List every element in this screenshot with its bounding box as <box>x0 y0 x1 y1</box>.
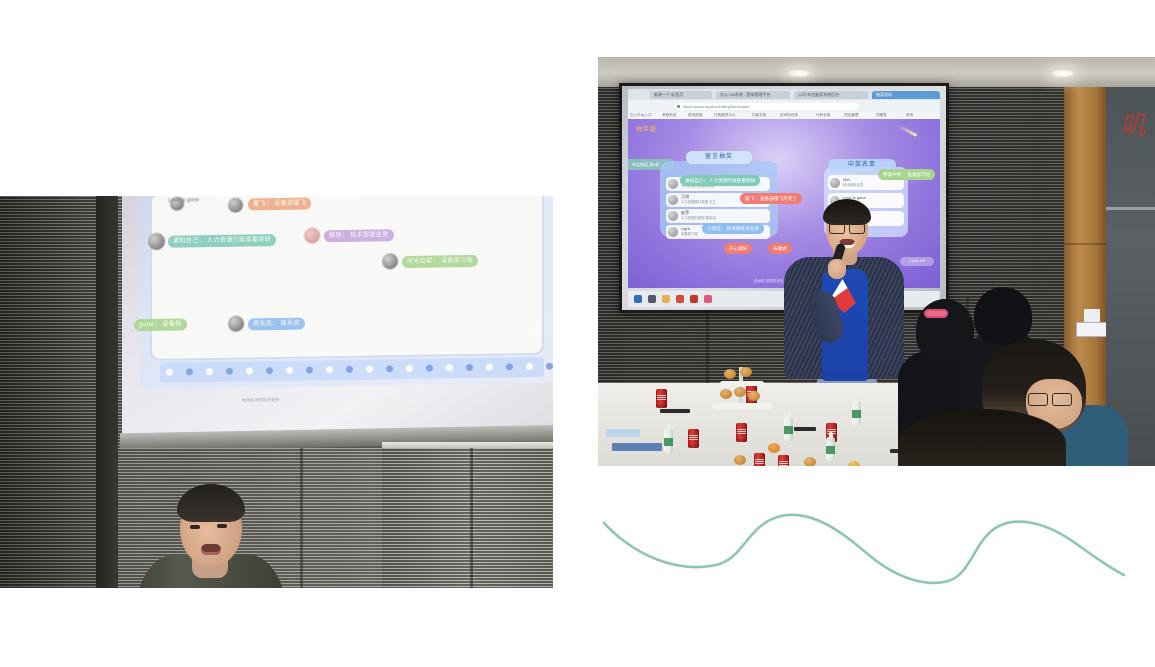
pastry <box>734 387 746 397</box>
chat-icon[interactable] <box>704 295 712 303</box>
projector-screen-left: Love is gone 雷飞： 设备部雷飞 通知自己： 人力资源行政部董晓妍 … <box>122 196 553 441</box>
pastry <box>734 455 746 465</box>
page-footer-note: 技术部 提供技术支持 <box>754 279 787 284</box>
browser-tab-active[interactable]: 抽奖现场 <box>872 91 940 99</box>
browser-tab[interactable]: 公司 年会抽奖系统后台 <box>794 91 868 99</box>
name-card <box>612 443 662 451</box>
shooting-star-icon <box>897 124 918 137</box>
coca-cola-can <box>688 429 699 448</box>
draw-user-name: Love is gone <box>168 196 226 213</box>
glasses-icon <box>829 223 865 232</box>
browser-tab-label: 新建一个 标签页 <box>650 91 712 99</box>
speaker-eye <box>217 524 227 528</box>
speaker-mouth <box>201 544 221 555</box>
company-logo-icon: 叽 <box>1120 113 1150 139</box>
bookmark-item[interactable]: 内部文库 <box>752 113 766 118</box>
bookmark-item[interactable]: 办公平台入口 <box>630 113 652 118</box>
browser-tab-label: 办公 OA系统 - 登录管理平台 <box>716 91 790 99</box>
audience-head <box>898 409 1066 466</box>
coca-cola-can <box>778 455 789 466</box>
bookmark-item[interactable]: 代码仓库 <box>816 113 830 118</box>
draw-list-title: 留言抽奖 <box>686 151 752 164</box>
ceiling-downlight-icon <box>786 69 812 78</box>
smartphone <box>794 427 816 431</box>
wood-panel-seam <box>1064 243 1106 245</box>
pastry <box>768 443 780 453</box>
coca-cola-can <box>754 453 765 466</box>
wall-fixture <box>1084 309 1100 323</box>
list-item-dept: 人力资源行政部 周永凤 <box>681 216 716 221</box>
avatar <box>668 211 678 221</box>
event-photo-host-with-audience: 叽 新建一个 标签页 办公 OA系统 - 登录管理平台 公司 年会抽奖系统后台 … <box>598 57 1155 466</box>
speaker-figure <box>118 482 303 588</box>
host-hand <box>828 259 846 279</box>
draw-progress-dots <box>160 357 544 383</box>
list-item-dept: 人力资源部行政部 王立 <box>681 200 716 205</box>
site-logo: 抽奖趣 <box>636 124 657 133</box>
stand-tier-top <box>720 381 764 386</box>
browser-address-bar: https://www.oa.plus/lottery/live/screen <box>628 100 940 112</box>
draw-chip: 时光绘就： 设备部习怡 <box>402 255 478 268</box>
folder-icon[interactable] <box>662 295 670 303</box>
draw-chip: 通知自己： 人力资源行政部董晓妍 <box>168 234 276 248</box>
browser-tab[interactable]: 办公 OA系统 - 登录管理平台 <box>716 91 790 99</box>
url-text: https://www.oa.plus/lottery/live/screen <box>674 103 859 110</box>
browser-tab[interactable]: 新建一个 标签页 <box>650 91 712 99</box>
speaker-hair <box>177 484 245 522</box>
water-bottle <box>664 429 673 453</box>
draw-chip: 开心就好 <box>724 243 752 254</box>
blinds-mullion <box>470 448 473 588</box>
draw-count-badge: Count 1/6 <box>900 257 934 266</box>
water-bottle <box>852 401 861 425</box>
wall-pillar-left <box>0 196 96 588</box>
host-hair <box>823 199 871 225</box>
water-bottle <box>826 437 835 461</box>
draw-chip: 雷飞： 设备部雷飞 <box>248 197 311 210</box>
name-card <box>606 429 640 437</box>
explorer-icon[interactable] <box>648 295 656 303</box>
draw-chip: 柳序： 技术部张佳男 <box>324 229 394 242</box>
bookmark-item[interactable]: 行政服务中心 <box>714 113 736 118</box>
hair-clip <box>924 309 948 318</box>
bookmark-item[interactable]: 考勤系统 <box>662 113 676 118</box>
wall-blinds-lower-right <box>382 448 553 588</box>
mail-icon[interactable] <box>690 295 698 303</box>
pastry <box>720 389 732 399</box>
pastry <box>748 391 760 401</box>
bookmark-item[interactable]: 财务报销 <box>688 113 702 118</box>
avatar <box>668 195 678 205</box>
bookmark-item[interactable]: 技术知识库 <box>780 113 798 118</box>
glass-partition-divider <box>1106 207 1155 210</box>
speaker-eye <box>190 525 200 529</box>
screen-footer-note: 技术部 提供技术支持 <box>242 397 279 404</box>
smartphone <box>660 409 690 413</box>
coca-cola-can <box>736 423 747 442</box>
slide-canvas: Love is gone 雷飞： 设备部雷飞 通知自己： 人力资源行政部董晓妍 … <box>0 0 1155 667</box>
audience-head <box>974 287 1032 345</box>
glasses-icon <box>1028 393 1072 404</box>
lucky-draw-board <box>150 196 544 361</box>
bookmark-item[interactable]: 项目管理 <box>844 113 858 118</box>
winner-dept: 技术部张佳男 <box>843 183 863 188</box>
browser-tab-label: 抽奖现场 <box>872 91 940 99</box>
bookmark-item[interactable]: 常用 <box>906 113 913 118</box>
bookmarks-bar: 办公平台入口 考勤系统 财务报销 行政服务中心 内部文库 技术知识库 代码仓库 … <box>628 112 940 119</box>
wall-pillar-shadow <box>96 196 118 588</box>
event-photo-speaker-presenting: Love is gone 雷飞： 设备部雷飞 通知自己： 人力资源行政部董晓妍 … <box>0 196 553 588</box>
pastry <box>724 369 736 379</box>
speaker-eyebrow <box>188 518 204 521</box>
avatar <box>668 227 678 237</box>
pastry <box>804 457 816 466</box>
pastry-tier-stand <box>710 367 772 425</box>
coca-cola-can <box>656 389 667 408</box>
pastry <box>740 367 752 377</box>
draw-chip: gone： 设备部 <box>134 318 187 331</box>
avatar <box>668 179 678 189</box>
draw-chip: 周永凤： 周永凤 <box>248 318 305 331</box>
speaker-eyebrow <box>215 517 231 520</box>
bookmark-item[interactable]: 排期表 <box>876 113 887 118</box>
lucky-draw-app-surface: Love is gone 雷飞： 设备部雷飞 通知自己： 人力资源行政部董晓妍 … <box>140 196 553 389</box>
notes-icon[interactable] <box>676 295 684 303</box>
pastry <box>848 461 860 466</box>
browser-tab-strip: 新建一个 标签页 办公 OA系统 - 登录管理平台 公司 年会抽奖系统后台 抽奖… <box>628 89 940 100</box>
draw-chip: 通知自己： 人力资源行政部董晓妍 <box>680 175 760 186</box>
browser-tab-label: 公司 年会抽奖系统后台 <box>794 91 868 99</box>
list-item-dept: 设备部习怡 <box>681 232 698 237</box>
start-icon[interactable] <box>634 295 642 303</box>
stand-tier-bottom <box>712 403 772 409</box>
ceiling-downlight-icon <box>1050 69 1076 78</box>
decorative-wave <box>596 495 1136 590</box>
water-bottle <box>784 417 793 441</box>
draw-chip: 恭喜中奖： 设备部习怡 <box>878 169 935 180</box>
draw-chip: 小李红： 技术部技术支持 <box>702 223 764 234</box>
avatar <box>830 178 840 188</box>
list-item[interactable]: 赵萍 人力资源行政部 周永凤 <box>666 209 770 223</box>
audience-member <box>898 409 1066 466</box>
url-field[interactable]: https://www.oa.plus/lottery/live/screen <box>674 103 859 110</box>
